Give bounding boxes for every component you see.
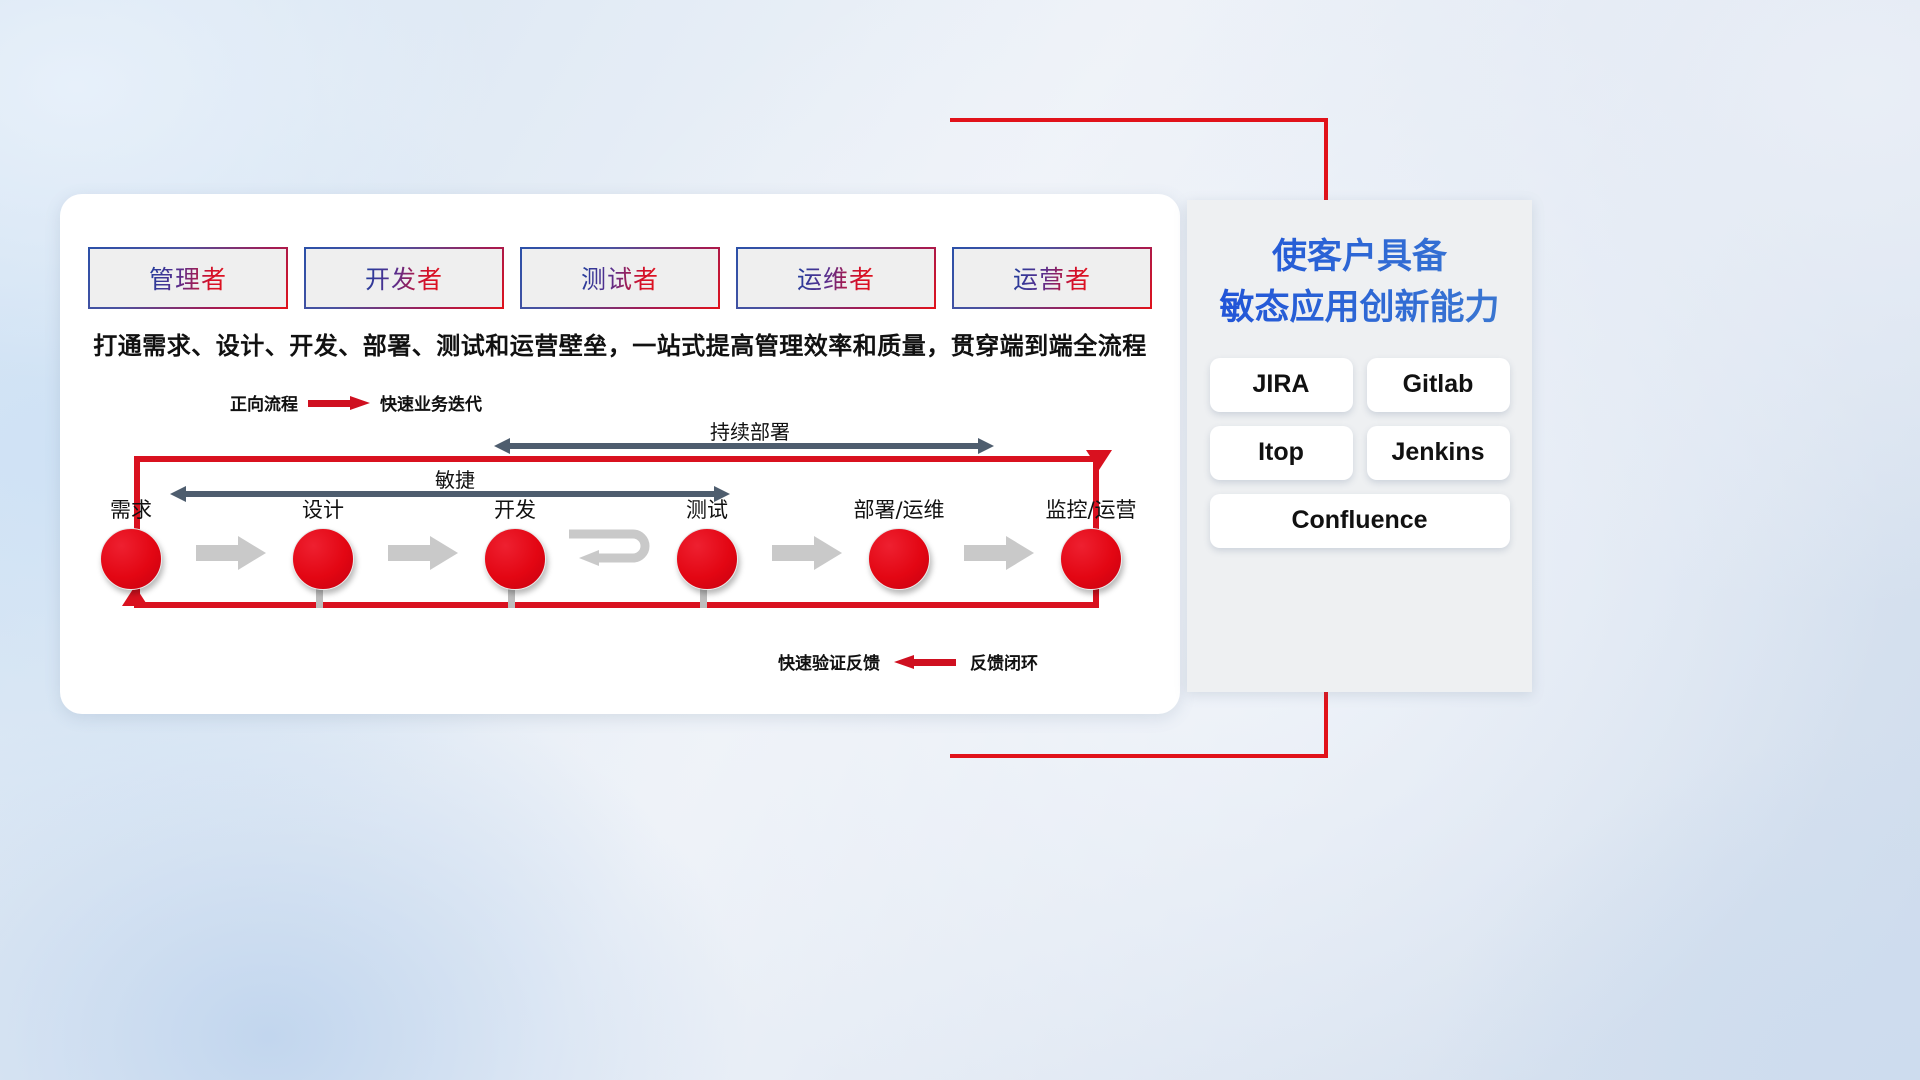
arrow-left-red-icon: [894, 655, 956, 669]
role-box-operations[interactable]: 运营者: [954, 249, 1150, 307]
panel-title-line2: 敏态应用创新能力: [1187, 283, 1532, 334]
role-box-tester[interactable]: 测试者: [522, 249, 718, 307]
role-label: 运营者: [1013, 260, 1091, 296]
iteration-loop-arrow-icon: [565, 524, 657, 568]
role-label: 测试者: [581, 260, 659, 296]
stage-label: 部署/运维: [851, 494, 947, 524]
role-label: 运维者: [797, 260, 875, 296]
stage-label: 测试: [659, 494, 755, 524]
description-text: 打通需求、设计、开发、部署、测试和运营壁垒，一站式提高管理效率和质量，贯穿端到端…: [60, 326, 1180, 361]
stage-label: 开发: [467, 494, 563, 524]
forward-flow-legend: 正向流程 快速业务迭代: [230, 390, 482, 415]
tool-jenkins[interactable]: Jenkins: [1367, 426, 1510, 480]
feedback-target-label: 快速验证反馈: [778, 649, 880, 674]
forward-flow-target-label: 快速业务迭代: [380, 390, 482, 415]
stage-development[interactable]: 开发: [467, 494, 563, 590]
capability-panel: 使客户具备 敏态应用创新能力 JIRA Gitlab Itop Jenkins …: [1187, 200, 1532, 692]
stage-design[interactable]: 设计: [275, 494, 371, 590]
loop-arrow-down-icon: [1086, 450, 1112, 470]
stage-dot: [868, 528, 930, 590]
stage-dot: [1060, 528, 1122, 590]
pipeline-stages: 需求 设计 开发 测试 部署/运维: [60, 494, 1180, 614]
feedback-source-label: 反馈闭环: [970, 649, 1038, 674]
stage-label: 设计: [275, 494, 371, 524]
arrow-right-gray-icon: [964, 536, 1034, 570]
feedback-loop-legend: 快速验证反馈 反馈闭环: [778, 649, 1038, 674]
stage-dot: [676, 528, 738, 590]
stage-dot: [484, 528, 546, 590]
role-box-developer[interactable]: 开发者: [306, 249, 502, 307]
tool-itop[interactable]: Itop: [1210, 426, 1353, 480]
stage-label: 需求: [83, 494, 179, 524]
role-boxes-row: 管理者 开发者 测试者 运维者 运营者: [90, 249, 1150, 307]
stage-dot: [292, 528, 354, 590]
tool-gitlab[interactable]: Gitlab: [1367, 358, 1510, 412]
panel-title: 使客户具备 敏态应用创新能力: [1187, 232, 1532, 334]
tool-confluence[interactable]: Confluence: [1210, 494, 1510, 548]
role-box-ops[interactable]: 运维者: [738, 249, 934, 307]
role-box-manager[interactable]: 管理者: [90, 249, 286, 307]
arrow-right-gray-icon: [196, 536, 266, 570]
tool-jira[interactable]: JIRA: [1210, 358, 1353, 412]
arrow-right-gray-icon: [772, 536, 842, 570]
stage-monitor-operations[interactable]: 监控/运营: [1043, 494, 1139, 590]
arrow-right-red-icon: [308, 396, 370, 410]
stage-label: 监控/运营: [1043, 494, 1139, 524]
stage-testing[interactable]: 测试: [659, 494, 755, 590]
tool-list: JIRA Gitlab Itop Jenkins Confluence: [1201, 358, 1518, 548]
forward-flow-source-label: 正向流程: [230, 390, 298, 415]
arrow-right-gray-icon: [388, 536, 458, 570]
continuous-deploy-arrow: [494, 438, 994, 454]
main-diagram-card: 管理者 开发者 测试者 运维者 运营者 打通需求、设计、开发、部署、测试和运营壁…: [60, 194, 1180, 714]
stage-deploy-ops[interactable]: 部署/运维: [851, 494, 947, 590]
stage-dot: [100, 528, 162, 590]
role-label: 开发者: [365, 260, 443, 296]
panel-title-line1: 使客户具备: [1187, 232, 1532, 283]
stage-requirement[interactable]: 需求: [83, 494, 179, 590]
role-label: 管理者: [149, 260, 227, 296]
